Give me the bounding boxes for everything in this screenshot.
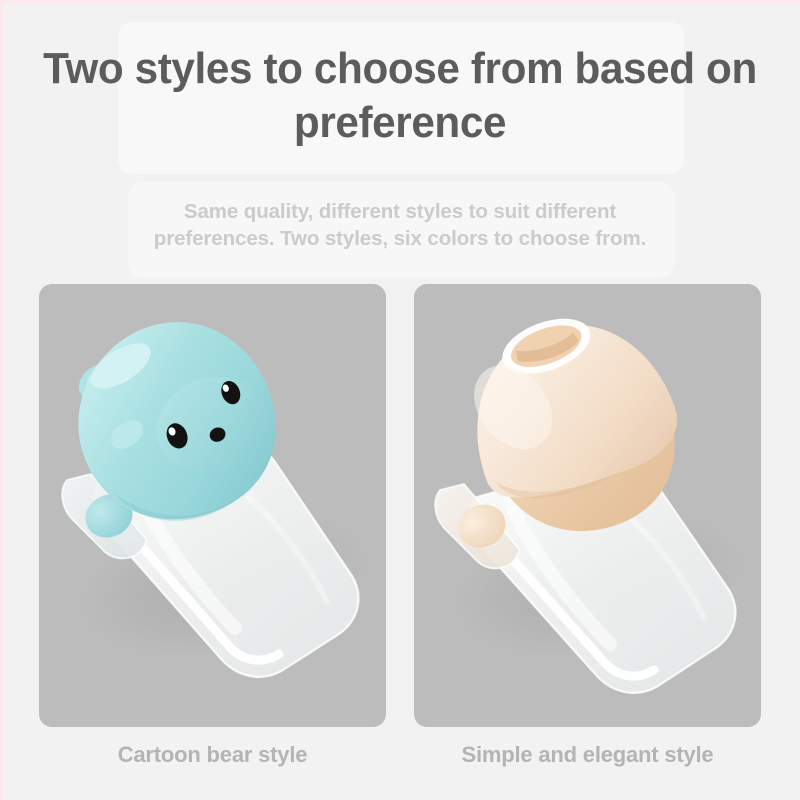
canvas-edge-tint-top (0, 0, 800, 3)
product-image-cartoon-bear (39, 284, 386, 727)
caption-simple-elegant: Simple and elegant style (414, 742, 761, 768)
canvas-edge-tint-left (0, 0, 3, 800)
caption-cartoon-bear: Cartoon bear style (39, 742, 386, 768)
style-card-simple-elegant[interactable] (414, 284, 761, 727)
product-image-simple-elegant (414, 284, 761, 727)
style-card-cartoon-bear[interactable] (39, 284, 386, 727)
style-comparison-gallery: Cartoon bear style Simple and elegant st… (0, 0, 800, 800)
